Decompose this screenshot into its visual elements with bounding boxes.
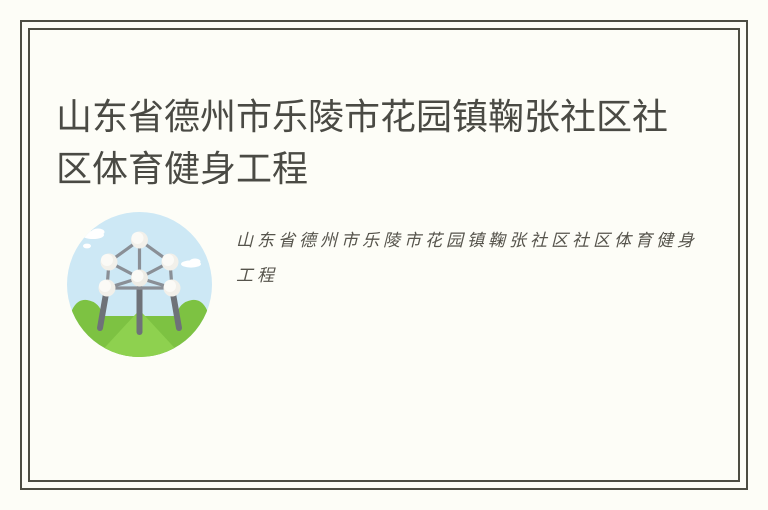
content-row: 山东省德州市乐陵市花园镇鞠张社区社区体育健身工程 [30,204,738,364]
project-caption: 山东省德州市乐陵市花园镇鞠张社区社区体育健身工程 [236,224,706,294]
atomium-monument-illustration [67,212,212,357]
content-card: 山东省德州市乐陵市花园镇鞠张社区社区体育健身工程 [20,20,748,490]
project-thumbnail [67,212,212,357]
content-card-inner-border: 山东省德州市乐陵市花园镇鞠张社区社区体育健身工程 [28,28,740,482]
page-title: 山东省德州市乐陵市花园镇鞠张社区社区体育健身工程 [56,92,676,196]
